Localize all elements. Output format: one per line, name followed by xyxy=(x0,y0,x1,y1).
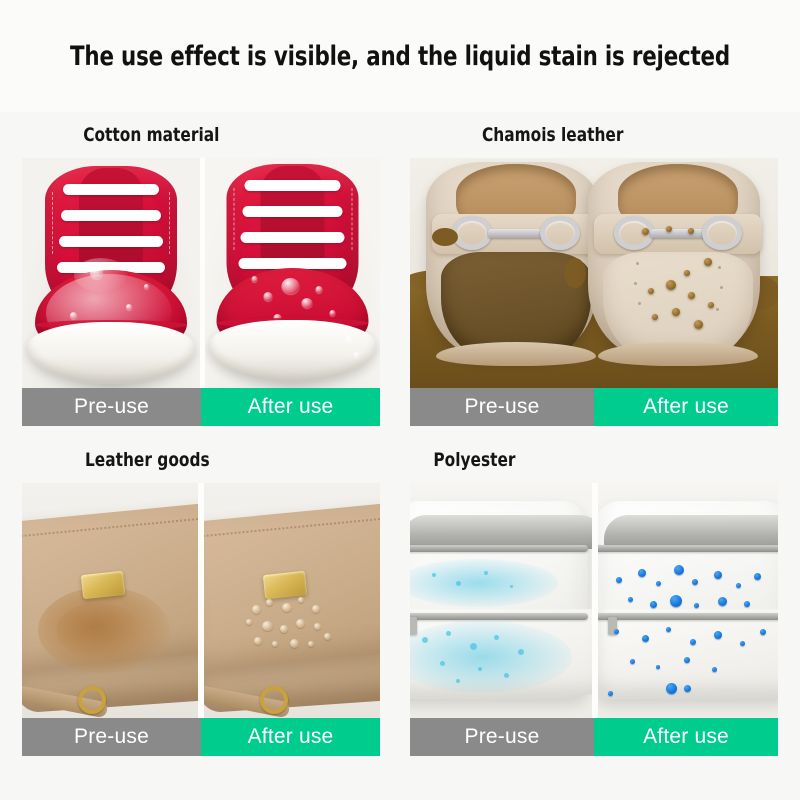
photo-before-leather xyxy=(22,483,198,718)
badge-bar-leather: Pre-use After use xyxy=(22,718,380,756)
panel-category-label: Polyester xyxy=(410,437,741,483)
panel-cotton-material: Cotton material xyxy=(22,112,380,442)
panel-photo-leather xyxy=(22,483,380,718)
photo-after-cotton xyxy=(205,158,380,388)
infographic-page: The use effect is visible, and the liqui… xyxy=(0,0,800,800)
panel-category-label: Leather goods xyxy=(22,437,344,483)
badge-pre-use: Pre-use xyxy=(410,388,594,426)
badge-bar-polyester: Pre-use After use xyxy=(410,718,778,756)
panel-leather-goods: Leather goods xyxy=(22,437,380,777)
photo-split-divider xyxy=(198,483,204,718)
panel-category-label: Cotton material xyxy=(22,112,344,158)
badge-pre-use: Pre-use xyxy=(22,388,201,426)
badge-after-use: After use xyxy=(594,388,778,426)
photo-before-polyester xyxy=(410,483,592,718)
comparison-grid: Cotton material xyxy=(0,112,800,800)
photo-after-chamois xyxy=(588,162,768,362)
photo-split-divider xyxy=(200,158,205,388)
photo-after-leather xyxy=(204,483,380,718)
panel-polyester: Polyester xyxy=(410,437,778,777)
badge-bar-chamois: Pre-use After use xyxy=(410,388,778,426)
photo-before-cotton xyxy=(22,158,200,388)
photo-after-polyester xyxy=(598,483,778,718)
panel-photo-cotton xyxy=(22,158,380,388)
badge-bar-cotton: Pre-use After use xyxy=(22,388,380,426)
photo-before-chamois xyxy=(426,162,606,362)
badge-after-use: After use xyxy=(201,718,380,756)
header-bar: The use effect is visible, and the liqui… xyxy=(0,0,800,112)
panel-photo-chamois xyxy=(410,158,778,388)
panel-chamois-leather: Chamois leather xyxy=(410,112,778,442)
photo-split-divider xyxy=(592,483,598,718)
badge-after-use: After use xyxy=(201,388,380,426)
page-title: The use effect is visible, and the liqui… xyxy=(70,41,730,72)
badge-pre-use: Pre-use xyxy=(410,718,594,756)
badge-pre-use: Pre-use xyxy=(22,718,201,756)
badge-after-use: After use xyxy=(594,718,778,756)
panel-photo-polyester xyxy=(410,483,778,718)
panel-category-label: Chamois leather xyxy=(410,112,741,158)
